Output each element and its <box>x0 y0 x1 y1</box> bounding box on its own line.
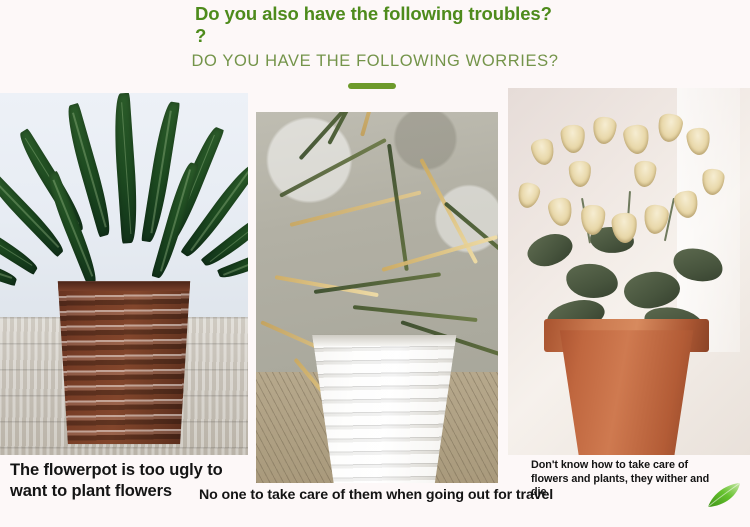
brown-ribbed-pot <box>52 281 196 444</box>
pot-rim <box>52 281 196 291</box>
pot-ribs <box>52 281 196 444</box>
promo-banner: Do you also have the following troubles?… <box>0 0 750 527</box>
caption-plants-wither: Don't know how to take care of flowers a… <box>531 459 731 500</box>
panel-plants-wither <box>508 88 750 455</box>
pot-ribs <box>309 335 459 483</box>
photo-wilted-flowers <box>508 88 750 455</box>
title-divider <box>348 83 396 89</box>
photo-ugly-flowerpot <box>0 93 248 455</box>
page-subtitle: DO YOU HAVE THE FOLLOWING WORRIES? <box>0 52 750 71</box>
white-ribbed-pot <box>309 335 459 483</box>
banner-header: Do you also have the following troubles?… <box>0 0 750 92</box>
panel-ugly-flowerpot <box>0 93 248 455</box>
photo-dying-palm <box>256 112 498 483</box>
leaf-icon <box>705 481 743 511</box>
page-title: Do you also have the following troubles?… <box>195 3 595 47</box>
pot-rim <box>309 335 459 346</box>
panel-no-one-to-care <box>256 112 498 483</box>
